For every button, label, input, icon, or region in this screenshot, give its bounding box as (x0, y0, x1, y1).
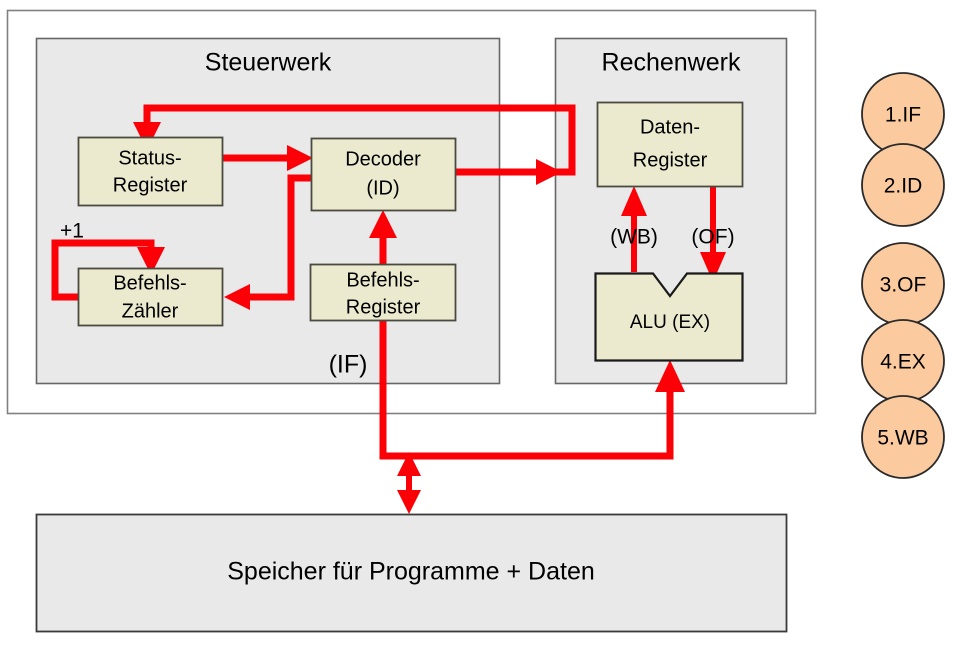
stage-wb[interactable]: 5.WB (862, 396, 944, 478)
memory-label: Speicher für Programme + Daten (227, 558, 595, 586)
stage-of-label: 3.OF (880, 274, 927, 297)
status-register-label-line1: Status- (118, 147, 181, 169)
program-counter-label-line1: Befehls- (113, 272, 186, 294)
component-data-register[interactable]: Daten- Register (598, 103, 743, 187)
increment-label: +1 (60, 220, 84, 243)
writeback-phase-label: (WB) (610, 226, 658, 249)
diagram-root: Steuerwerk Rechenwerk +1 (WB) (0, 0, 959, 649)
decoder-label-line2: (ID) (366, 177, 399, 199)
alu-label: ALU (EX) (630, 312, 710, 333)
stage-id[interactable]: 2.ID (862, 144, 944, 226)
stage-wb-label: 5.WB (877, 427, 928, 450)
component-decoder[interactable]: Decoder (ID) (312, 139, 456, 211)
instruction-register-label-line2: Register (346, 296, 421, 318)
stage-id-label: 2.ID (884, 175, 923, 198)
stage-of[interactable]: 3.OF (862, 243, 944, 325)
instruction-fetch-phase-label: (IF) (329, 351, 368, 379)
decoder-label-line1: Decoder (345, 148, 421, 170)
instruction-register-label-line1: Befehls- (346, 269, 419, 291)
component-instruction-register[interactable]: Befehls- Register (311, 265, 456, 321)
arrowhead-bus-down-to-memory (397, 490, 421, 514)
stage-if-label: 1.IF (885, 104, 921, 127)
status-register-label-line2: Register (113, 174, 188, 196)
operand-fetch-phase-label: (OF) (691, 226, 734, 249)
memory-block[interactable]: Speicher für Programme + Daten (37, 515, 787, 632)
data-register-label-line2: Register (633, 149, 708, 171)
data-register-label-line1: Daten- (640, 116, 700, 138)
stage-ex[interactable]: 4.EX (862, 320, 944, 402)
von-neumann-block-diagram: Steuerwerk Rechenwerk +1 (WB) (0, 0, 959, 649)
control-unit-title: Steuerwerk (205, 49, 332, 77)
component-status-register[interactable]: Status- Register (79, 138, 223, 206)
program-counter-label-line2: Zähler (122, 300, 179, 322)
datapath-unit-title: Rechenwerk (602, 49, 741, 77)
stage-ex-label: 4.EX (880, 351, 926, 374)
component-program-counter[interactable]: Befehls- Zähler (79, 269, 223, 326)
stage-if[interactable]: 1.IF (862, 73, 944, 155)
